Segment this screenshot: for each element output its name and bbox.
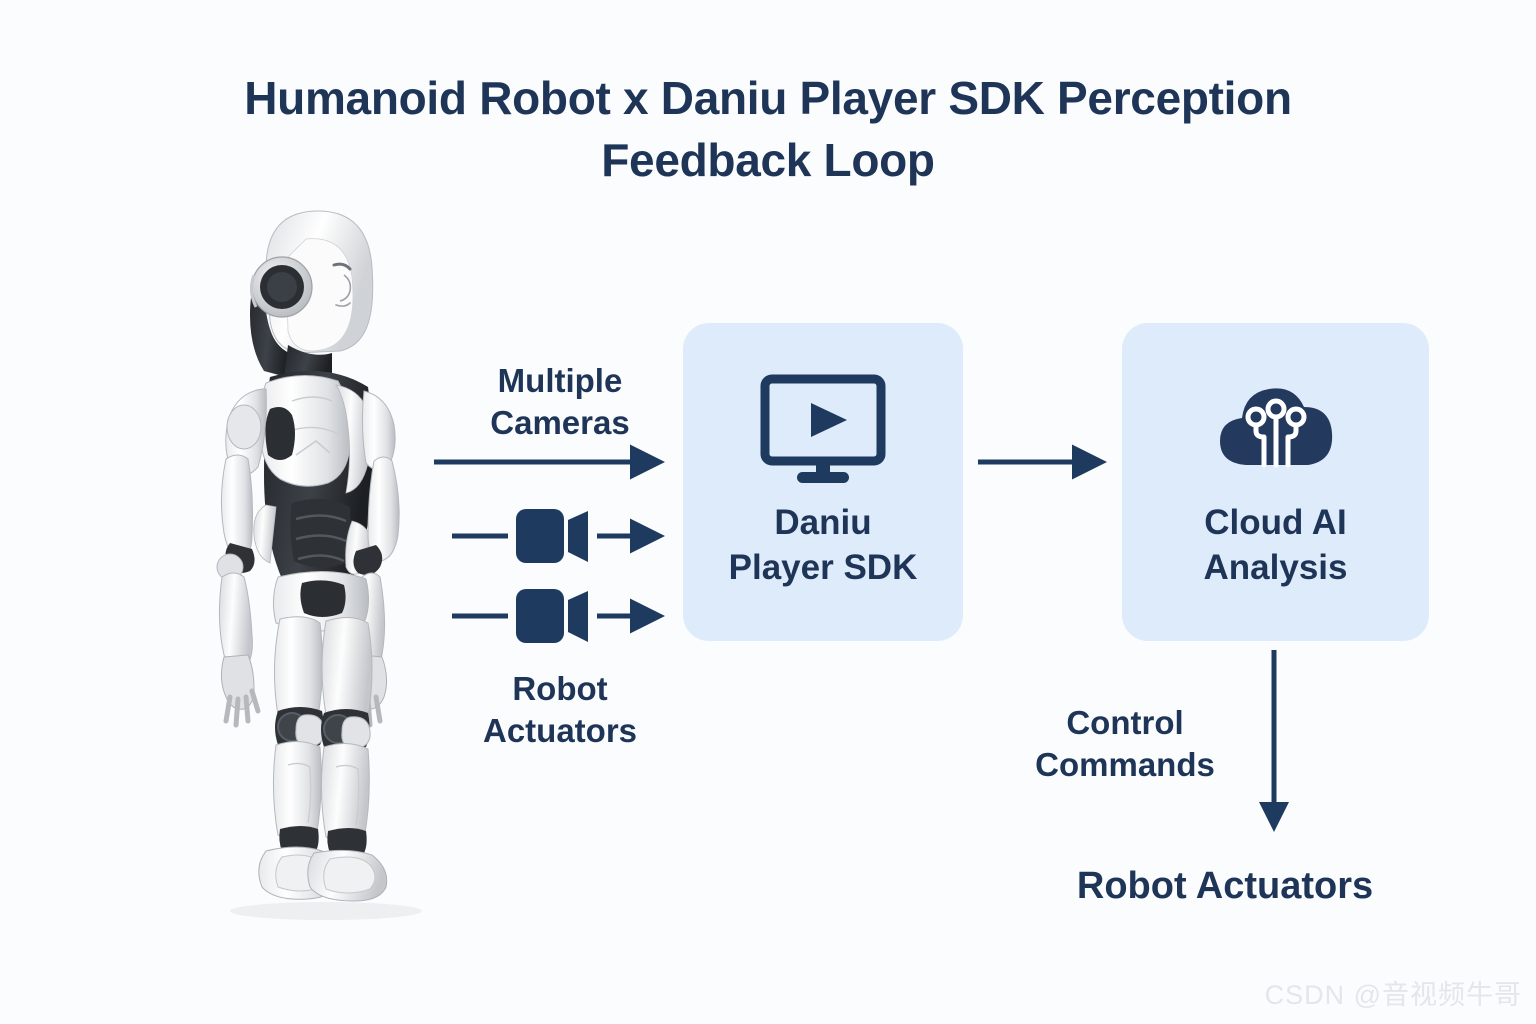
node-cloud-ai-analysis[interactable]: Cloud AI Analysis [1122,323,1429,641]
label-multiple-cameras: Multiple Cameras [415,360,705,444]
robot-legs [259,617,387,901]
label-robot-actuators-output: Robot Actuators [1025,865,1425,908]
watermark: CSDN @音视频牛哥 [1265,973,1522,1012]
monitor-play-icon [759,373,887,485]
node-label-daniu-player-sdk: Daniu Player SDK [729,501,918,591]
video-camera-icon [516,589,588,643]
diagram-canvas: Humanoid Robot x Daniu Player SDK Percep… [0,0,1536,1024]
humanoid-robot-figure [196,205,464,920]
label-control-commands: Control Commands [1000,702,1250,786]
node-daniu-player-sdk[interactable]: Daniu Player SDK [683,323,963,641]
page-title: Humanoid Robot x Daniu Player SDK Percep… [168,68,1368,191]
robot-head [250,211,373,379]
cloud-circuit-icon [1212,373,1340,485]
video-camera-icon [516,509,588,563]
robot-torso [254,371,373,579]
label-robot-actuators-input: Robot Actuators [415,668,705,752]
node-label-cloud-ai-analysis: Cloud AI Analysis [1204,501,1348,591]
